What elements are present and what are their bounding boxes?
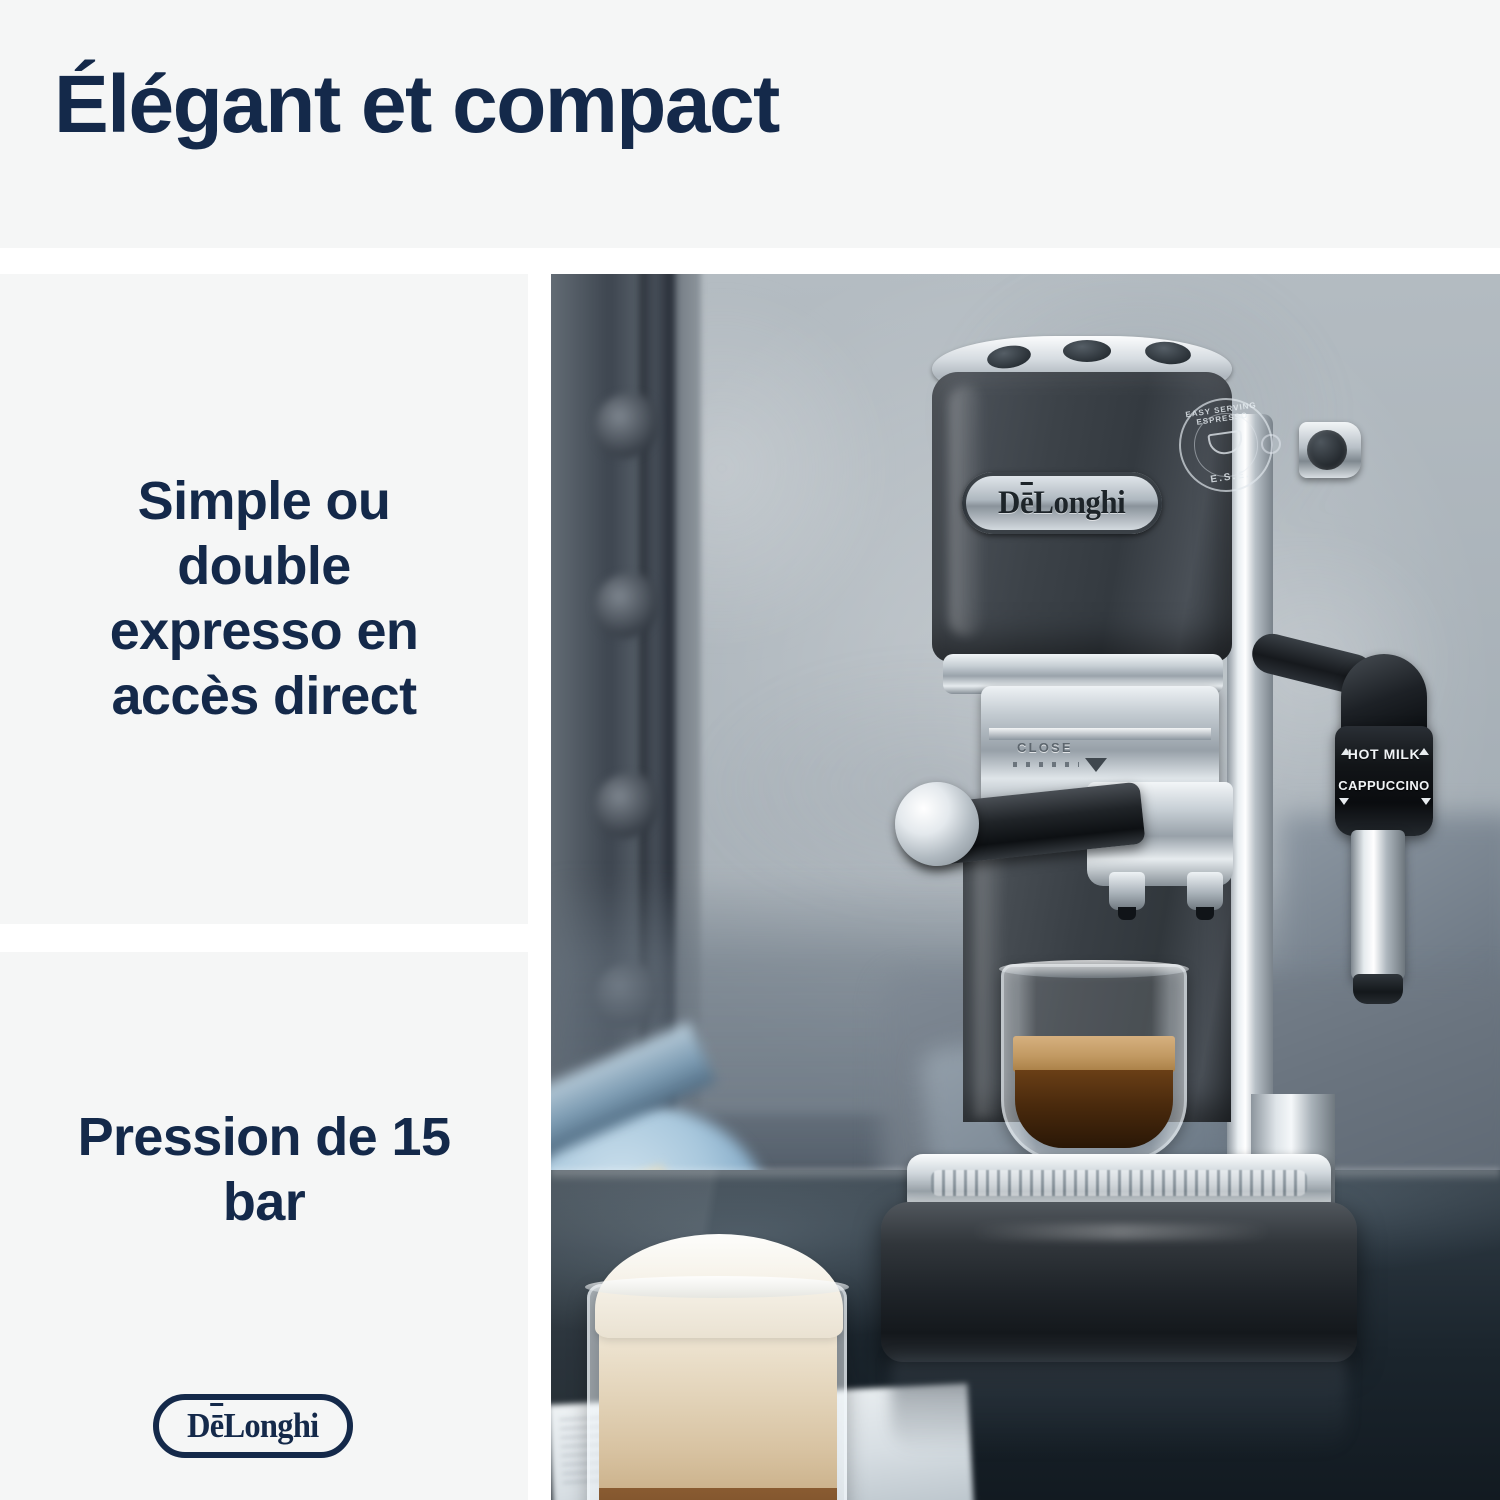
machine-base-highlight bbox=[971, 1224, 1271, 1240]
portafilter-spout bbox=[1187, 872, 1223, 910]
delonghi-wordmark: DēLonghi bbox=[187, 1406, 319, 1446]
steam-knob-dial bbox=[1307, 430, 1347, 470]
machine-side-rail bbox=[1227, 414, 1273, 1154]
page-title: Élégant et compact bbox=[54, 62, 779, 148]
feature-text-espresso: Simple ou double expresso en accès direc… bbox=[64, 469, 464, 728]
cappuccino-glass-rim bbox=[585, 1276, 849, 1298]
close-dots bbox=[1013, 762, 1079, 767]
column-highlight bbox=[975, 826, 1003, 1118]
frother-arrow-icon bbox=[1421, 798, 1431, 805]
header-band: Élégant et compact bbox=[0, 0, 1500, 248]
machine-badge-after: Longhi bbox=[1034, 485, 1126, 521]
group-head-ridge bbox=[989, 728, 1211, 740]
frother-label-cappuccino: CAPPUCCINO bbox=[1335, 778, 1433, 793]
cappuccino-coffee-layer bbox=[599, 1486, 837, 1500]
steam-wand-tube bbox=[1351, 830, 1405, 982]
frother-label-hot-milk: HOT MILK bbox=[1335, 746, 1433, 762]
machine-badge-macron: ē bbox=[1020, 485, 1033, 521]
espresso-liquid bbox=[1015, 1070, 1173, 1148]
feature-text-pressure: Pression de 15 bar bbox=[64, 1105, 464, 1235]
logo-text-macron: ē bbox=[210, 1406, 224, 1445]
machine-reflection bbox=[891, 1358, 1347, 1454]
espresso-glass-rim bbox=[999, 960, 1189, 978]
feature-panel-espresso: Simple ou double expresso en accès direc… bbox=[0, 274, 528, 924]
steam-wand-tip bbox=[1353, 974, 1403, 1004]
close-arrow-icon bbox=[1085, 758, 1107, 772]
logo-text-after: Longhi bbox=[224, 1406, 319, 1445]
vent-icon bbox=[1063, 340, 1111, 362]
logo-text-before: D bbox=[187, 1406, 210, 1445]
delonghi-logo: DēLonghi bbox=[153, 1394, 353, 1458]
machine-brand-badge: DēLonghi bbox=[962, 472, 1162, 534]
portafilter-spout bbox=[1109, 872, 1145, 910]
ad-canvas: Élégant et compact Simple ou double expr… bbox=[0, 0, 1500, 1500]
cappuccino-milk-layer bbox=[599, 1332, 837, 1488]
product-photo: DēLonghi EASY SERVING ESPRESSO E.S.E. CL… bbox=[551, 274, 1500, 1500]
espresso-crema bbox=[1013, 1036, 1175, 1072]
indicator-ring-icon bbox=[1261, 434, 1281, 454]
close-label: CLOSE bbox=[1017, 740, 1073, 755]
drip-tray-grid bbox=[931, 1170, 1307, 1196]
machine-badge-before: D bbox=[998, 485, 1020, 521]
frother-arrow-icon bbox=[1339, 798, 1349, 805]
